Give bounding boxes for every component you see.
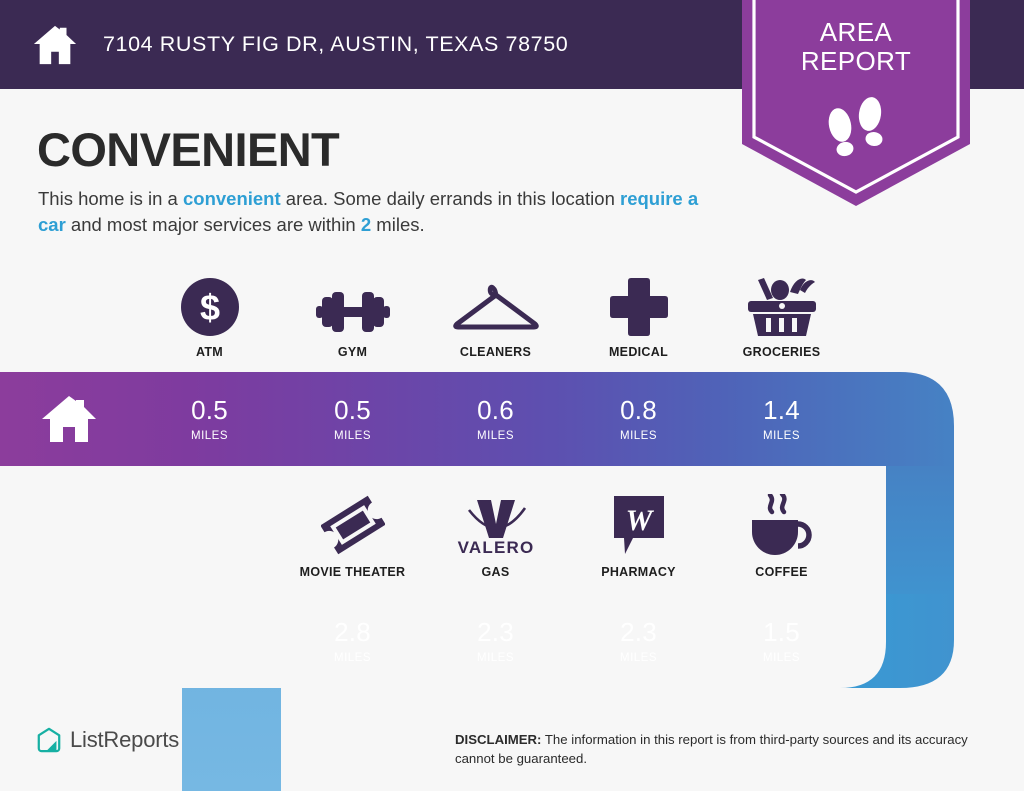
distance-cell-gas: 2.3 MILES (424, 594, 567, 688)
intro-paragraph: This home is in a convenient area. Some … (38, 186, 728, 239)
listreports-house-icon (36, 727, 62, 753)
distance-value: 2.3 (477, 619, 514, 645)
area-report-page: 7104 RUSTY FIG DR, AUSTIN, TEXAS 78750 A… (0, 0, 1024, 791)
distance-unit: MILES (334, 652, 371, 664)
category-movie-theater: MOVIE THEATER (281, 492, 424, 579)
category-label: ATM (196, 345, 223, 359)
home-icon (32, 22, 78, 68)
distance-value: 0.5 (334, 397, 371, 423)
coffee-cup-icon (748, 492, 816, 556)
dumbbell-icon (316, 272, 390, 336)
distance-cell-cleaners: 0.6 MILES (424, 372, 567, 466)
listreports-logo[interactable]: ListReports (36, 727, 179, 753)
distance-unit: MILES (477, 652, 514, 664)
distance-value: 0.6 (477, 397, 514, 423)
distance-value: 1.4 (763, 397, 800, 423)
svg-text:VALERO: VALERO (457, 538, 534, 556)
distance-unit: MILES (763, 652, 800, 664)
intro-part-1: This home is in a (38, 188, 183, 209)
distance-cell-gym: 0.5 MILES (281, 372, 424, 466)
distance-unit: MILES (477, 430, 514, 442)
category-pharmacy: W PHARMACY (567, 492, 710, 579)
intro-part-3: and most major services are within (66, 214, 361, 235)
distance-value: 1.5 (763, 619, 800, 645)
valero-logo-icon: VALERO (453, 492, 539, 556)
distance-unit: MILES (620, 430, 657, 442)
hanger-icon (453, 272, 539, 336)
category-medical: MEDICAL (567, 272, 710, 359)
disclaimer-label: DISCLAIMER: (455, 732, 541, 747)
category-label: GAS (482, 565, 510, 579)
atm-dollar-icon: $ (181, 272, 239, 336)
header-address: 7104 RUSTY FIG DR, AUSTIN, TEXAS 78750 (103, 32, 568, 57)
svg-text:$: $ (199, 287, 219, 328)
badge-ribbon-shape (734, 0, 978, 212)
intro-highlight-convenient: convenient (183, 188, 281, 209)
distance-unit: MILES (334, 430, 371, 442)
category-coffee: COFFEE (710, 492, 853, 579)
icon-row-primary: $ ATM GYM (138, 272, 854, 359)
distance-value: 2.3 (620, 619, 657, 645)
distance-cell-coffee: 1.5 MILES (710, 594, 853, 688)
movie-ticket-icon (321, 492, 385, 556)
home-icon (40, 394, 98, 444)
icon-row-secondary: MOVIE THEATER VALERO GAS W PHARMACY (138, 492, 854, 579)
category-label: GYM (338, 345, 367, 359)
distance-unit: MILES (763, 430, 800, 442)
walgreens-w-icon: W (611, 492, 667, 556)
distance-cell-pharmacy: 2.3 MILES (567, 594, 710, 688)
distance-row-secondary: 2.8 MILES 2.3 MILES 2.3 MILES 1.5 MILES (281, 594, 854, 688)
distance-cell-medical: 0.8 MILES (567, 372, 710, 466)
home-origin-cell (0, 372, 138, 466)
intro-part-2: area. Some daily errands in this locatio… (281, 188, 620, 209)
listreports-logo-text: ListReports (70, 727, 179, 753)
svg-text:W: W (625, 504, 654, 537)
category-label: MEDICAL (609, 345, 668, 359)
category-label: COFFEE (755, 565, 808, 579)
intro-highlight-miles: 2 (361, 214, 371, 235)
category-label: CLEANERS (460, 345, 531, 359)
area-report-badge: AREA REPORT (734, 0, 978, 212)
distance-unit: MILES (191, 430, 228, 442)
category-label: MOVIE THEATER (300, 565, 406, 579)
distance-row-primary: 0.5 MILES 0.5 MILES 0.6 MILES 0.8 MILES … (138, 372, 854, 466)
distance-cell-groceries: 1.4 MILES (710, 372, 853, 466)
distance-value: 2.8 (334, 619, 371, 645)
category-groceries: GROCERIES (710, 272, 853, 359)
category-gas: VALERO GAS (424, 492, 567, 579)
medical-cross-icon (610, 272, 668, 336)
disclaimer: DISCLAIMER: The information in this repo… (455, 731, 1000, 768)
category-atm: $ ATM (138, 272, 281, 359)
distance-unit: MILES (620, 652, 657, 664)
category-gym: GYM (281, 272, 424, 359)
intro-part-4: miles. (371, 214, 424, 235)
page-title: CONVENIENT (37, 122, 339, 177)
category-cleaners: CLEANERS (424, 272, 567, 359)
distance-value: 0.8 (620, 397, 657, 423)
spacer-cell (138, 492, 281, 579)
category-label: PHARMACY (601, 565, 676, 579)
distance-value: 0.5 (191, 397, 228, 423)
distance-cell-movie-theater: 2.8 MILES (281, 594, 424, 688)
distance-cell-atm: 0.5 MILES (138, 372, 281, 466)
grocery-basket-icon (746, 272, 818, 336)
category-label: GROCERIES (743, 345, 821, 359)
